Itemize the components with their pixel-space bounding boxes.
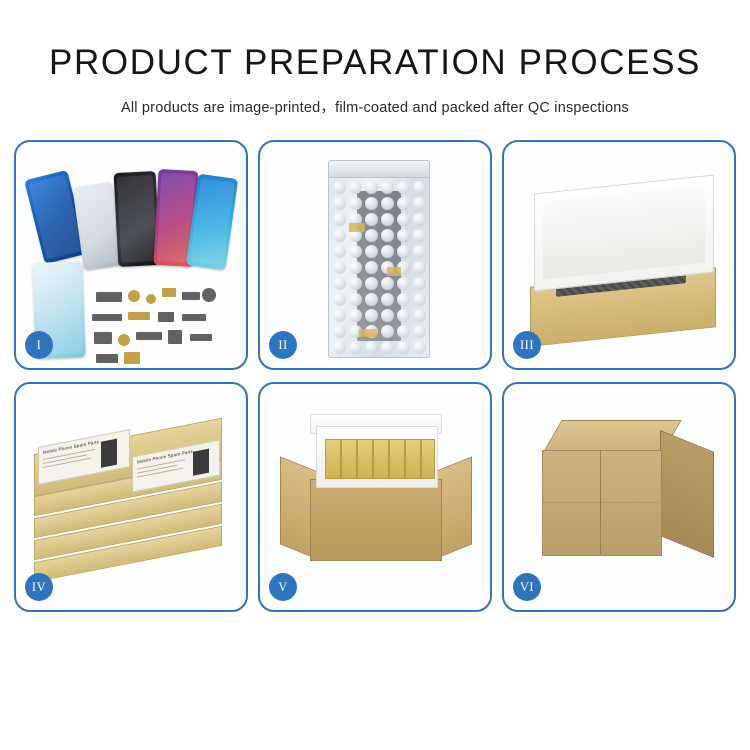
spare-part xyxy=(182,292,200,300)
spare-part xyxy=(96,292,122,302)
step-5-illustration xyxy=(260,384,490,610)
tape-piece xyxy=(359,329,377,337)
phone-screen xyxy=(76,186,120,266)
phone-screen xyxy=(189,178,234,266)
carton-front-face xyxy=(542,450,662,556)
spare-part xyxy=(202,288,216,302)
bubble-wrap-pouch xyxy=(328,160,430,358)
step-badge-2: II xyxy=(269,331,297,359)
foam-tray xyxy=(316,426,438,488)
step-6-illustration xyxy=(504,384,734,610)
process-step-1: I xyxy=(14,140,248,370)
step-badge-1: I xyxy=(25,331,53,359)
packed-part xyxy=(357,439,373,479)
packed-part xyxy=(389,439,405,479)
process-step-2: II xyxy=(258,140,492,370)
step-badge-5: V xyxy=(269,573,297,601)
process-step-6: VI xyxy=(502,382,736,612)
step-badge-6: VI xyxy=(513,573,541,601)
step-badge-3: III xyxy=(513,331,541,359)
step-2-illustration xyxy=(260,142,490,368)
page-subtitle: All products are image-printed，film-coat… xyxy=(0,83,750,117)
spare-part xyxy=(168,330,182,344)
process-step-4: Mobile Phone Spare Parts Mobile Phone Sp… xyxy=(14,382,248,612)
spare-part xyxy=(146,294,156,304)
process-step-5: V xyxy=(258,382,492,612)
lid-inner-panel xyxy=(543,184,705,279)
spare-part xyxy=(94,332,112,344)
packed-part xyxy=(325,439,341,479)
white-box-lid xyxy=(534,175,714,292)
step-1-illustration xyxy=(16,142,246,368)
poster-page: PRODUCT PREPARATION PROCESS All products… xyxy=(0,0,750,750)
spare-part xyxy=(136,332,162,340)
step-4-illustration: Mobile Phone Spare Parts Mobile Phone Sp… xyxy=(16,384,246,610)
carton-side-face xyxy=(660,430,714,558)
spare-part xyxy=(128,312,150,320)
bubble-pattern xyxy=(329,161,429,357)
step-badge-4: IV xyxy=(25,573,53,601)
packed-part xyxy=(373,439,389,479)
packed-part xyxy=(421,439,435,479)
spare-part xyxy=(182,314,206,321)
tape-piece xyxy=(349,223,365,232)
page-title: PRODUCT PREPARATION PROCESS xyxy=(0,0,750,83)
spare-part xyxy=(158,312,174,322)
process-step-3: III xyxy=(502,140,736,370)
process-step-grid: I xyxy=(14,140,736,612)
spare-part xyxy=(190,334,212,341)
carton-seam xyxy=(542,502,660,503)
spare-part xyxy=(124,352,140,364)
step-3-illustration xyxy=(504,142,734,368)
spare-part xyxy=(128,290,140,302)
phone-screen xyxy=(117,175,157,263)
carton-body xyxy=(310,479,442,561)
packed-part xyxy=(341,439,357,479)
packed-part xyxy=(405,439,421,479)
spare-part xyxy=(96,354,118,363)
spare-part xyxy=(118,334,130,346)
spare-part xyxy=(92,314,122,321)
tape-piece xyxy=(387,267,401,276)
spare-part xyxy=(162,288,176,297)
